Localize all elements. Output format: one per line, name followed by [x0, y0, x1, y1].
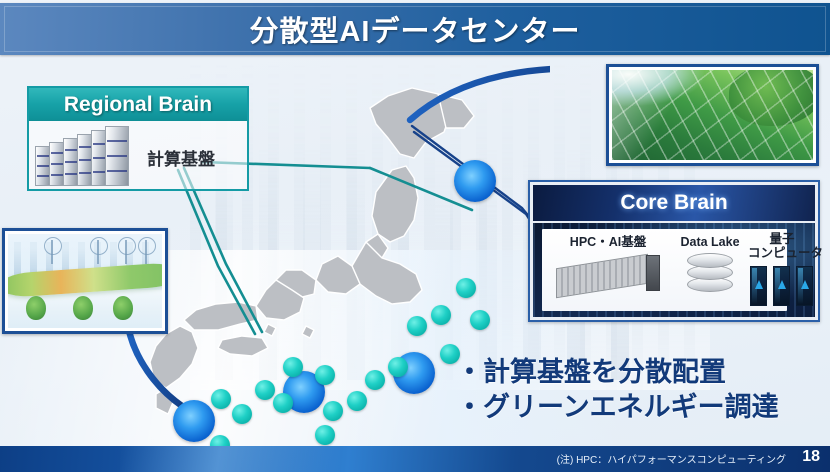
core-brain-item-quantum: 量子 コンピュータ: [748, 232, 816, 306]
map-node[interactable]: [323, 401, 343, 421]
map-node[interactable]: [470, 310, 490, 330]
page-title: 分散型AIデータセンター: [0, 3, 830, 55]
core-brain-header: Core Brain: [533, 185, 815, 221]
core-brain-item-hpc: HPC・AI基盤: [548, 235, 668, 297]
map-node[interactable]: [431, 305, 451, 325]
bullet-item: ・計算基盤を分散配置: [456, 355, 830, 390]
map-node[interactable]: [388, 357, 408, 377]
map-node-hokkaido-hub[interactable]: [454, 160, 496, 202]
green-smart-city-photo: [2, 228, 168, 334]
quantum-label-line2: コンピュータ: [748, 246, 816, 260]
quantum-label-line1: 量子: [748, 232, 816, 246]
map-node[interactable]: [315, 425, 335, 445]
map-node[interactable]: [315, 365, 335, 385]
map-node-kyushu-hub[interactable]: [173, 400, 215, 442]
bullet-list: ・計算基盤を分散配置 ・グリーンエネルギー調達: [456, 355, 830, 424]
title-bar: 分散型AIデータセンター: [0, 3, 830, 55]
map-node[interactable]: [211, 389, 231, 409]
regional-brain-label: 計算基盤: [147, 145, 215, 170]
regional-brain-header: Regional Brain: [29, 88, 247, 121]
server-rack-icon: [554, 253, 662, 297]
page-number: 18: [802, 448, 820, 466]
server-rack-icon: [35, 126, 143, 188]
map-node[interactable]: [365, 370, 385, 390]
solar-panel-greenery-photo: [606, 64, 819, 166]
footer-bar: (注) HPC：ハイパフォーマンスコンピューティング 18: [0, 446, 830, 472]
map-node[interactable]: [347, 391, 367, 411]
data-lake-label: Data Lake: [670, 235, 750, 249]
bullet-item: ・グリーンエネルギー調達: [456, 390, 830, 425]
slide-root: 分散型AIデータセンター: [0, 0, 830, 472]
core-brain-item-datalake: Data Lake: [670, 235, 750, 297]
regional-brain-card: Regional Brain 計算基盤: [27, 86, 249, 191]
footnote-text: (注) HPC：ハイパフォーマンスコンピューティング: [557, 451, 786, 466]
core-brain-card: Core Brain HPC・AI基盤 Data Lake 量子: [528, 180, 820, 322]
map-node[interactable]: [232, 404, 252, 424]
map-node[interactable]: [407, 316, 427, 336]
database-cylinder-icon: [687, 253, 733, 297]
map-node[interactable]: [456, 278, 476, 298]
core-brain-panel: HPC・AI基盤 Data Lake 量子 コンピュータ: [542, 229, 787, 311]
footer-sheen: [120, 446, 340, 472]
map-node[interactable]: [273, 393, 293, 413]
quantum-computer-icon: [750, 266, 814, 306]
hpc-label: HPC・AI基盤: [548, 235, 668, 249]
map-node[interactable]: [283, 357, 303, 377]
map-node[interactable]: [255, 380, 275, 400]
